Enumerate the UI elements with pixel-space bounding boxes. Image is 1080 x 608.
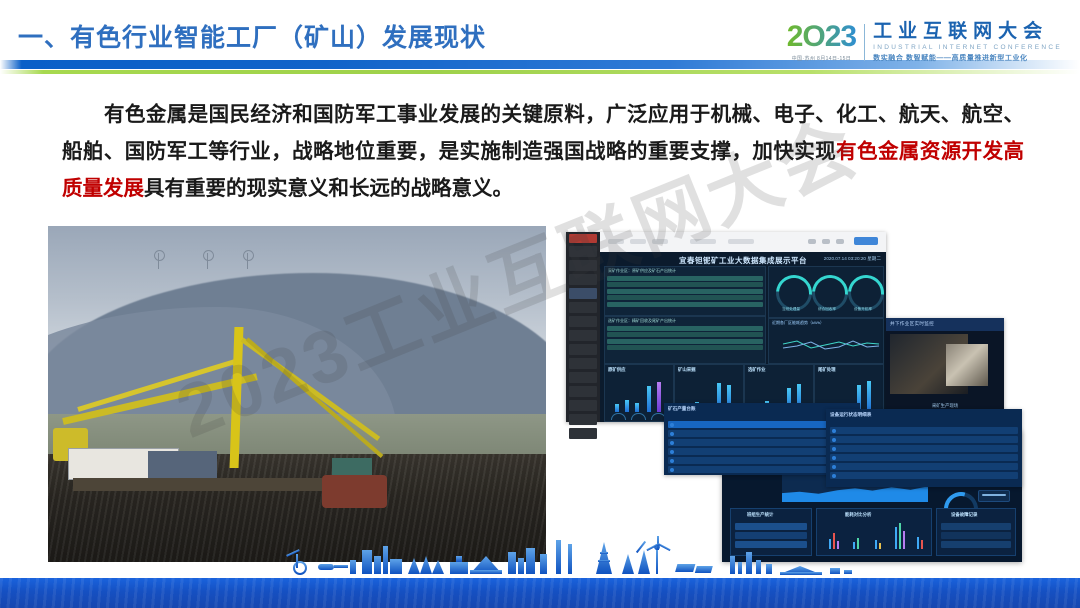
bottom-panel-label-1: 能耗对比分析 [845,512,871,518]
table-row[interactable] [830,445,1018,452]
row-dot-icon [832,447,836,451]
conference-logo: 2O23 中国·苏州 8月14日-15日 工业互联网大会 INDUSTRIAL … [787,22,1062,63]
sidebar-item-3-active[interactable] [569,288,597,299]
dashboard-table-2: 选矿作业区：精矿回收及尾矿产出统计 [604,316,766,364]
dashboard-sidebar[interactable] [566,232,600,422]
toolbar-primary-button[interactable] [854,237,878,245]
dashboard-window[interactable]: 宜春钽铌矿工业大数据集成展示平台 2020.07.14 03:20:20 星期二… [566,232,886,422]
sidebar-item-11[interactable] [569,400,597,411]
logo-year: 2O23 [787,22,856,52]
video-feed-thumb[interactable] [946,344,988,386]
sidebar-brand [569,234,597,243]
toolbar-icon-2[interactable] [836,239,844,244]
row-dot-icon [832,465,836,469]
bottom-panel-label-0: 班组生产统计 [747,512,773,518]
sidebar-item-1[interactable] [569,260,597,271]
sidebar-item-13[interactable] [569,428,597,439]
page-title: 一、有色行业智能工厂（矿山）发展现状 [18,18,486,54]
header-green-line [0,70,1080,74]
table-row[interactable] [830,436,1018,443]
line-chart-caption: 近期各厂区能耗趋势（kWh） [769,319,883,326]
sidebar-item-6[interactable] [569,330,597,341]
gauge-label-2: 设备开机率 [841,307,885,312]
video-panel-title: 井下作业区实时监控 [890,321,934,327]
bar [867,381,871,412]
row-dot-icon [832,474,836,478]
bar [625,400,629,412]
table-row [735,523,807,530]
wind-turbine-icon [158,253,159,269]
bar-section-label-2: 选矿作业 [748,367,766,373]
table-row [607,302,763,307]
bar [657,382,661,412]
bar [615,404,619,412]
dashboard-canvas: 宜春钽铌矿工业大数据集成展示平台 2020.07.14 03:20:20 星期二… [600,252,886,422]
sidebar-item-0[interactable] [569,246,597,257]
kpi-chip [978,490,1010,502]
conveyor-tracks [73,478,332,491]
sidebar-item-9[interactable] [569,372,597,383]
paragraph-part2: 具有重要的现实意义和长远的战略意义。 [144,177,513,200]
sidebar-item-12[interactable] [569,414,597,425]
dashboard-timestamp: 2020.07.14 03:20:20 星期二 [824,256,881,262]
toolbar-icon-1[interactable] [822,239,830,244]
table-1-caption: 采矿作业区：原矿供应及矿石产出统计 [605,267,765,274]
sidebar-item-8[interactable] [569,358,597,369]
dashboard-toolbar[interactable] [600,232,886,253]
row-dot-icon [670,423,674,427]
excavator-machine-house [148,451,218,481]
sidebar-item-10[interactable] [569,386,597,397]
mine-photo [48,226,546,562]
logo-name-en: INDUSTRIAL INTERNET CONFERENCE [873,44,1062,51]
bottom-panel-label-2: 设备故障记录 [951,512,977,518]
logo-date-location: 中国·苏州 8月14日-15日 [792,55,852,62]
video-panel-header: 井下作业区实时监控 [886,318,1004,331]
body-paragraph: 有色金属是国民经济和国防军工事业发展的关键原料，广泛应用于机械、电子、化工、航天… [62,96,1024,207]
bar [635,403,639,412]
footer-band [0,578,1080,608]
table-panel-a-caption: 矿石产量台账 [668,406,696,412]
sidebar-item-5[interactable] [569,316,597,327]
table-row [607,289,763,294]
crawler-base [322,475,387,509]
table-row [607,295,763,300]
row-dot-icon [670,468,674,472]
row-dot-icon [832,456,836,460]
logo-name-cn: 工业互联网大会 [873,22,1062,42]
logo-year-block: 2O23 中国·苏州 8月14日-15日 [787,22,864,62]
toolbar-tab-3[interactable] [690,239,716,244]
bar-section-label-1: 矿山采掘 [678,367,696,373]
table-row[interactable] [830,427,1018,434]
row-dot-icon [670,432,674,436]
bar [647,386,651,412]
table-row [607,282,763,287]
toolbar-tab-4[interactable] [728,239,754,244]
logo-divider [864,24,865,61]
row-dot-icon [832,429,836,433]
sidebar-item-4[interactable] [569,302,597,313]
row-dot-icon [670,459,674,463]
toolbar-tab-2[interactable] [652,239,668,244]
wind-turbine-icon [207,253,208,269]
logo-slogan: 数实融合 数智赋能——高质量推进新型工业化 [873,53,1062,63]
device-status-table-panel[interactable]: 设备运行状态明细表 [826,409,1022,487]
mini-gauge [631,413,646,421]
toolbar-icon-0[interactable] [808,239,816,244]
mini-gauge [611,413,626,421]
toolbar-tab-0[interactable] [608,239,624,244]
row-dot-icon [670,450,674,454]
table-panel-b-caption: 设备运行状态明细表 [830,412,871,418]
table-row [941,523,1011,530]
slide-root: 一、有色行业智能工厂（矿山）发展现状 2O23 中国·苏州 8月14日-15日 … [0,0,1080,608]
table-row[interactable] [830,463,1018,470]
bar-section-label-3: 尾矿处理 [818,367,836,373]
bar-section-label-0: 原矿供应 [608,367,626,373]
sidebar-item-2[interactable] [569,274,597,285]
table-row[interactable] [830,454,1018,461]
table-2-caption: 选矿作业区：精矿回收及尾矿产出统计 [605,317,765,324]
table-row[interactable] [830,472,1018,479]
row-dot-icon [832,438,836,442]
dashboard-table-1: 采矿作业区：原矿供应及矿石产出统计 [604,266,766,316]
table-row [607,339,763,344]
table-row [607,326,763,331]
sidebar-item-7[interactable] [569,344,597,355]
line-chart-svg [769,330,883,360]
wind-turbine-icon [247,253,248,269]
skyline-svg [0,534,1080,578]
row-dot-icon [670,441,674,445]
table-row [607,276,763,281]
logo-name-block: 工业互联网大会 INDUSTRIAL INTERNET CONFERENCE 数… [873,22,1062,63]
footer-skyline [0,534,1080,578]
toolbar-tab-1[interactable] [630,239,646,244]
gauge-panel: 当班处理量 综合回收率 设备开机率 [768,266,884,318]
table-row [607,332,763,337]
table-row [607,345,763,350]
video-monitor-panel[interactable]: 井下作业区实时监控 采矿生产现场 [886,318,1004,414]
line-chart-panel: 近期各厂区能耗趋势（kWh） [768,318,884,364]
